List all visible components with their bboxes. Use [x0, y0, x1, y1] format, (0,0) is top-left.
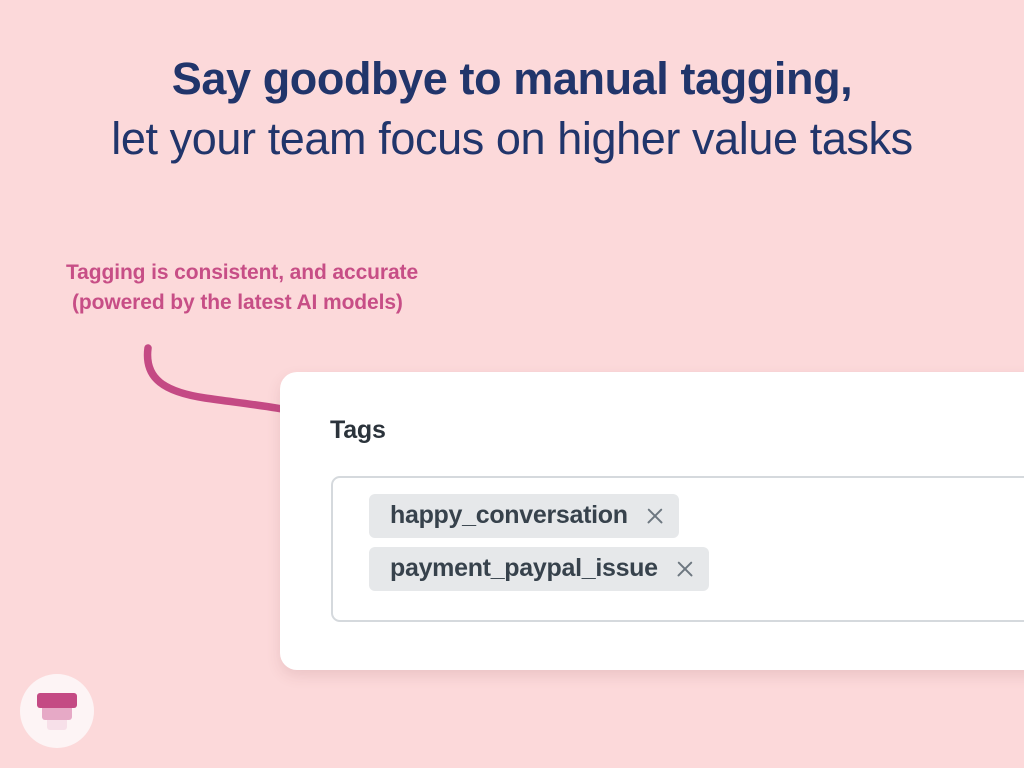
card-title: Tags: [330, 416, 386, 445]
tag-chip-label: happy_conversation: [390, 501, 628, 530]
close-icon[interactable]: [674, 558, 696, 580]
funnel-bar-middle: [42, 708, 72, 720]
close-icon[interactable]: [644, 505, 666, 527]
page-headline: Say goodbye to manual tagging, let your …: [0, 52, 1024, 165]
funnel-logo: [20, 674, 94, 748]
tag-chip[interactable]: happy_conversation: [369, 494, 679, 538]
funnel-bar-top: [37, 693, 77, 708]
annotation-line-1: Tagging is consistent, and accurate: [66, 261, 418, 284]
tag-chip-row: happy_conversation: [369, 494, 1024, 547]
tags-input-box[interactable]: happy_conversation payment_paypal_issue: [331, 476, 1024, 622]
tags-card: Tags happy_conversation payment_paypal_i…: [280, 372, 1024, 670]
headline-line-2: let your team focus on higher value task…: [0, 112, 1024, 165]
funnel-bar-bottom: [47, 720, 67, 730]
annotation-callout: Tagging is consistent, and accurate (pow…: [66, 258, 536, 318]
annotation-line-2: (powered by the latest AI models): [66, 288, 536, 318]
tag-chip[interactable]: payment_paypal_issue: [369, 547, 709, 591]
tag-chip-label: payment_paypal_issue: [390, 554, 658, 583]
tag-chip-row: payment_paypal_issue: [369, 547, 1024, 600]
headline-line-1: Say goodbye to manual tagging,: [0, 52, 1024, 105]
